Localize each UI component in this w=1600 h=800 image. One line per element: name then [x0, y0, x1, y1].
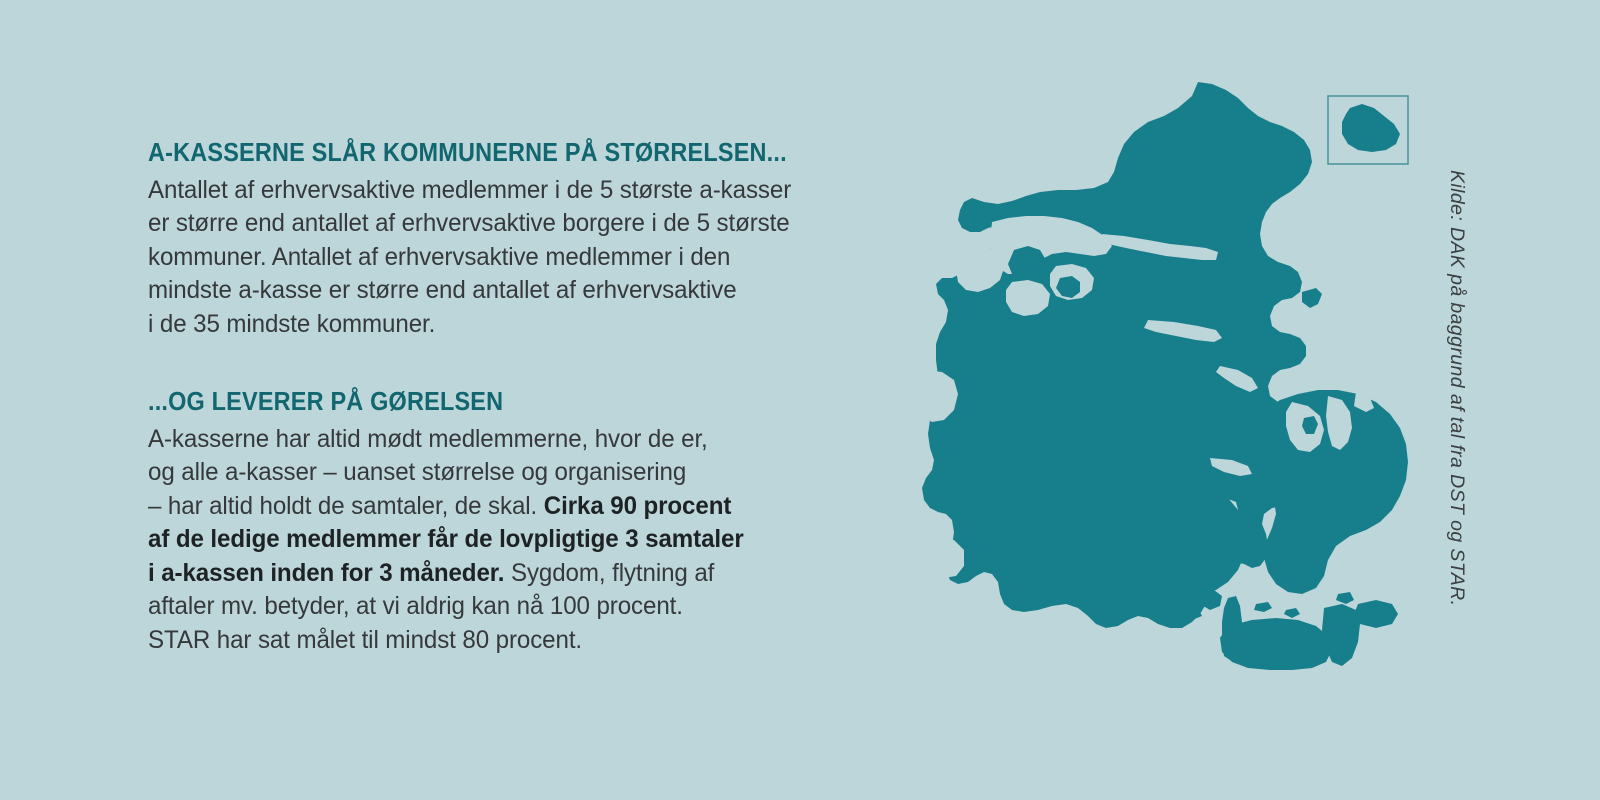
island-anholt — [1302, 288, 1322, 308]
limfjord-island-mors — [1008, 246, 1046, 280]
body-line: kommuner. Antallet af erhvervsaktive med… — [148, 241, 881, 275]
body-line: Antallet af erhvervsaktive medlemmer i d… — [148, 174, 881, 208]
body-line-plain: – har altid holdt de samtaler, de skal. — [148, 492, 544, 520]
island-moen — [1354, 600, 1398, 628]
body-line-mixed: – har altid holdt de samtaler, de skal. … — [148, 490, 881, 524]
body-line: mindste a-kasse er større end antallet a… — [148, 274, 881, 308]
body-line: A-kasserne har altid mødt medlemmerne, h… — [148, 423, 881, 457]
body-text-delivery: A-kasserne har altid mødt medlemmerne, h… — [148, 423, 881, 658]
emphasis-ledige-medlemmer: af de ledige medlemmer får de lovpligtig… — [148, 525, 744, 553]
denmark-map-svg — [880, 70, 1460, 710]
text-column: A-KASSERNE SLÅR KOMMUNERNE PÅ STØRRELSEN… — [148, 138, 908, 657]
body-line: og alle a-kasser – uanset størrelse og o… — [148, 456, 881, 490]
body-line: er større end antallet af erhvervsaktive… — [148, 207, 881, 241]
emphasis-tre-maaneder: i a-kassen inden for 3 måneder. — [148, 559, 504, 587]
body-text-size: Antallet af erhvervsaktive medlemmer i d… — [148, 174, 881, 342]
body-line: aftaler mv. betyder, at vi aldrig kan nå… — [148, 590, 881, 624]
body-line-mixed: i a-kassen inden for 3 måneder. Sygdom, … — [148, 557, 881, 591]
text-block-delivery: ...OG LEVERER PÅ GØRELSEN A-kasserne har… — [148, 387, 908, 657]
island-bogoe — [1336, 592, 1354, 604]
body-line: STAR har sat målet til mindst 80 procent… — [148, 624, 881, 658]
island-lolland — [1220, 618, 1332, 670]
text-block-size: A-KASSERNE SLÅR KOMMUNERNE PÅ STØRRELSEN… — [148, 138, 908, 341]
island-bornholm — [1342, 104, 1400, 152]
island-small-south — [1284, 608, 1300, 618]
island-small-south-2 — [1254, 602, 1272, 612]
body-line-bold: af de ledige medlemmer får de lovpligtig… — [148, 523, 881, 557]
body-line-plain: Sygdom, flytning af — [504, 559, 714, 587]
heading-og-leverer-paa-goerelsen: ...OG LEVERER PÅ GØRELSEN — [148, 387, 847, 418]
denmark-map — [880, 70, 1460, 710]
body-line: i de 35 mindste kommuner. — [148, 308, 881, 342]
heading-a-kasserne-stoerrelsen: A-KASSERNE SLÅR KOMMUNERNE PÅ STØRRELSEN… — [148, 138, 847, 169]
source-credit: Kilde: DAK på baggrund af tal fra DST og… — [1445, 170, 1468, 610]
region-jylland — [922, 82, 1312, 628]
emphasis-cirka-90-procent: Cirka 90 procent — [544, 492, 732, 520]
infographic-poster: A-KASSERNE SLÅR KOMMUNERNE PÅ STØRRELSEN… — [0, 0, 1600, 800]
